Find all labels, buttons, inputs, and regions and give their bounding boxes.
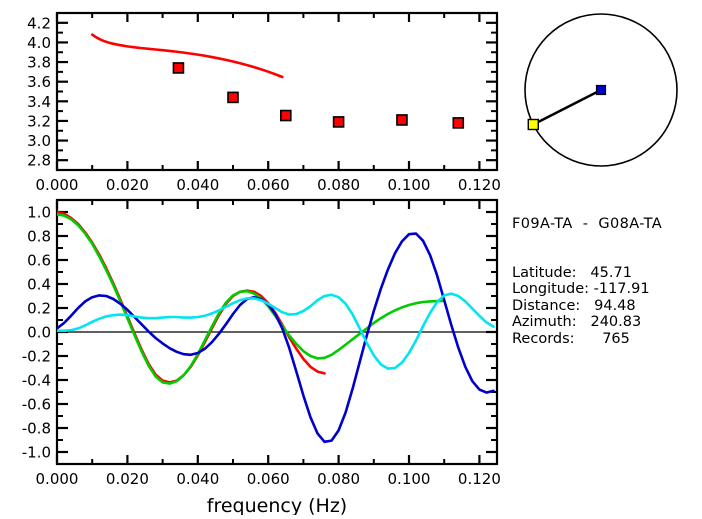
info-row-azimuth: Azimuth: 240.83 — [512, 314, 662, 330]
info-row-longitude: Longitude: -117.91 — [512, 281, 662, 297]
ytick-label: 1.0 — [27, 204, 51, 222]
data-point-marker — [228, 92, 238, 102]
info-row-records: Records: 765 — [512, 331, 662, 347]
data-point-marker — [281, 111, 291, 121]
info-label: Longitude: — [512, 281, 589, 297]
data-point-marker — [397, 115, 407, 125]
info-row-distance: Distance: 94.48 — [512, 298, 662, 314]
ytick-label: 0.0 — [27, 324, 51, 342]
ytick-label: 0.4 — [27, 276, 51, 294]
x-axis-label: frequency (Hz) — [207, 495, 347, 515]
info-label: Latitude: — [512, 265, 577, 281]
ytick-label: 3.0 — [27, 132, 51, 150]
ytick-label: 0.6 — [27, 252, 51, 270]
xtick-label: 0.040 — [176, 470, 219, 488]
plot-frame — [57, 13, 497, 170]
info-row-latitude: Latitude: 45.71 — [512, 265, 662, 281]
info-value: 45.71 — [590, 265, 632, 281]
ytick-label: 0.2 — [27, 300, 51, 318]
xtick-label: 0.120 — [458, 470, 501, 488]
info-pad — [575, 331, 603, 347]
ytick-label: 3.4 — [27, 93, 51, 111]
info-value: 240.83 — [590, 314, 641, 330]
xtick-label: 0.000 — [36, 470, 79, 488]
ytick-label: -0.6 — [22, 396, 51, 414]
info-label: Distance: — [512, 298, 580, 314]
ytick-label: 2.8 — [27, 152, 51, 170]
source-station-marker — [528, 120, 538, 130]
info-label: Records: — [512, 331, 575, 347]
info-value: 94.48 — [594, 298, 636, 314]
xtick-label: 0.100 — [388, 470, 431, 488]
reference-dispersion-curve — [92, 35, 282, 77]
ytick-label: 4.2 — [27, 14, 51, 32]
info-label: Azimuth: — [512, 314, 577, 330]
station-pair-map — [503, 0, 702, 180]
blue-curve — [57, 234, 493, 442]
data-point-marker — [173, 63, 183, 73]
station-info-block: F09A-TA - G08A-TA Latitude: 45.71Longitu… — [512, 183, 662, 380]
xtick-label: 0.080 — [317, 470, 360, 488]
ytick-label: -0.2 — [22, 348, 51, 366]
ytick-label: 3.2 — [27, 112, 51, 130]
ytick-label: 3.6 — [27, 73, 51, 91]
info-value: -117.91 — [594, 281, 650, 297]
station-path-line — [533, 90, 601, 125]
ytick-label: 3.8 — [27, 54, 51, 72]
center-station-marker — [597, 86, 606, 95]
info-pad — [577, 314, 591, 330]
station-pair-title: F09A-TA - G08A-TA — [512, 216, 662, 232]
ytick-label: -0.8 — [22, 420, 51, 438]
data-point-marker — [453, 118, 463, 128]
data-point-marker — [334, 117, 344, 127]
ytick-label: 4.0 — [27, 34, 51, 52]
spectra-chart: 0.0000.0200.0400.0600.0800.1000.120-1.0-… — [0, 190, 510, 515]
info-pad — [580, 298, 594, 314]
ytick-label: -1.0 — [22, 444, 51, 462]
info-value: 765 — [602, 331, 630, 347]
dispersion-chart: 0.0000.0200.0400.0600.0800.1000.1202.83.… — [0, 0, 510, 195]
ytick-label: 0.8 — [27, 228, 51, 246]
xtick-label: 0.020 — [106, 470, 149, 488]
figure-root: 0.0000.0200.0400.0600.0800.1000.1202.83.… — [0, 0, 702, 519]
info-pad — [577, 265, 591, 281]
xtick-label: 0.060 — [247, 470, 290, 488]
ytick-label: -0.4 — [22, 372, 51, 390]
